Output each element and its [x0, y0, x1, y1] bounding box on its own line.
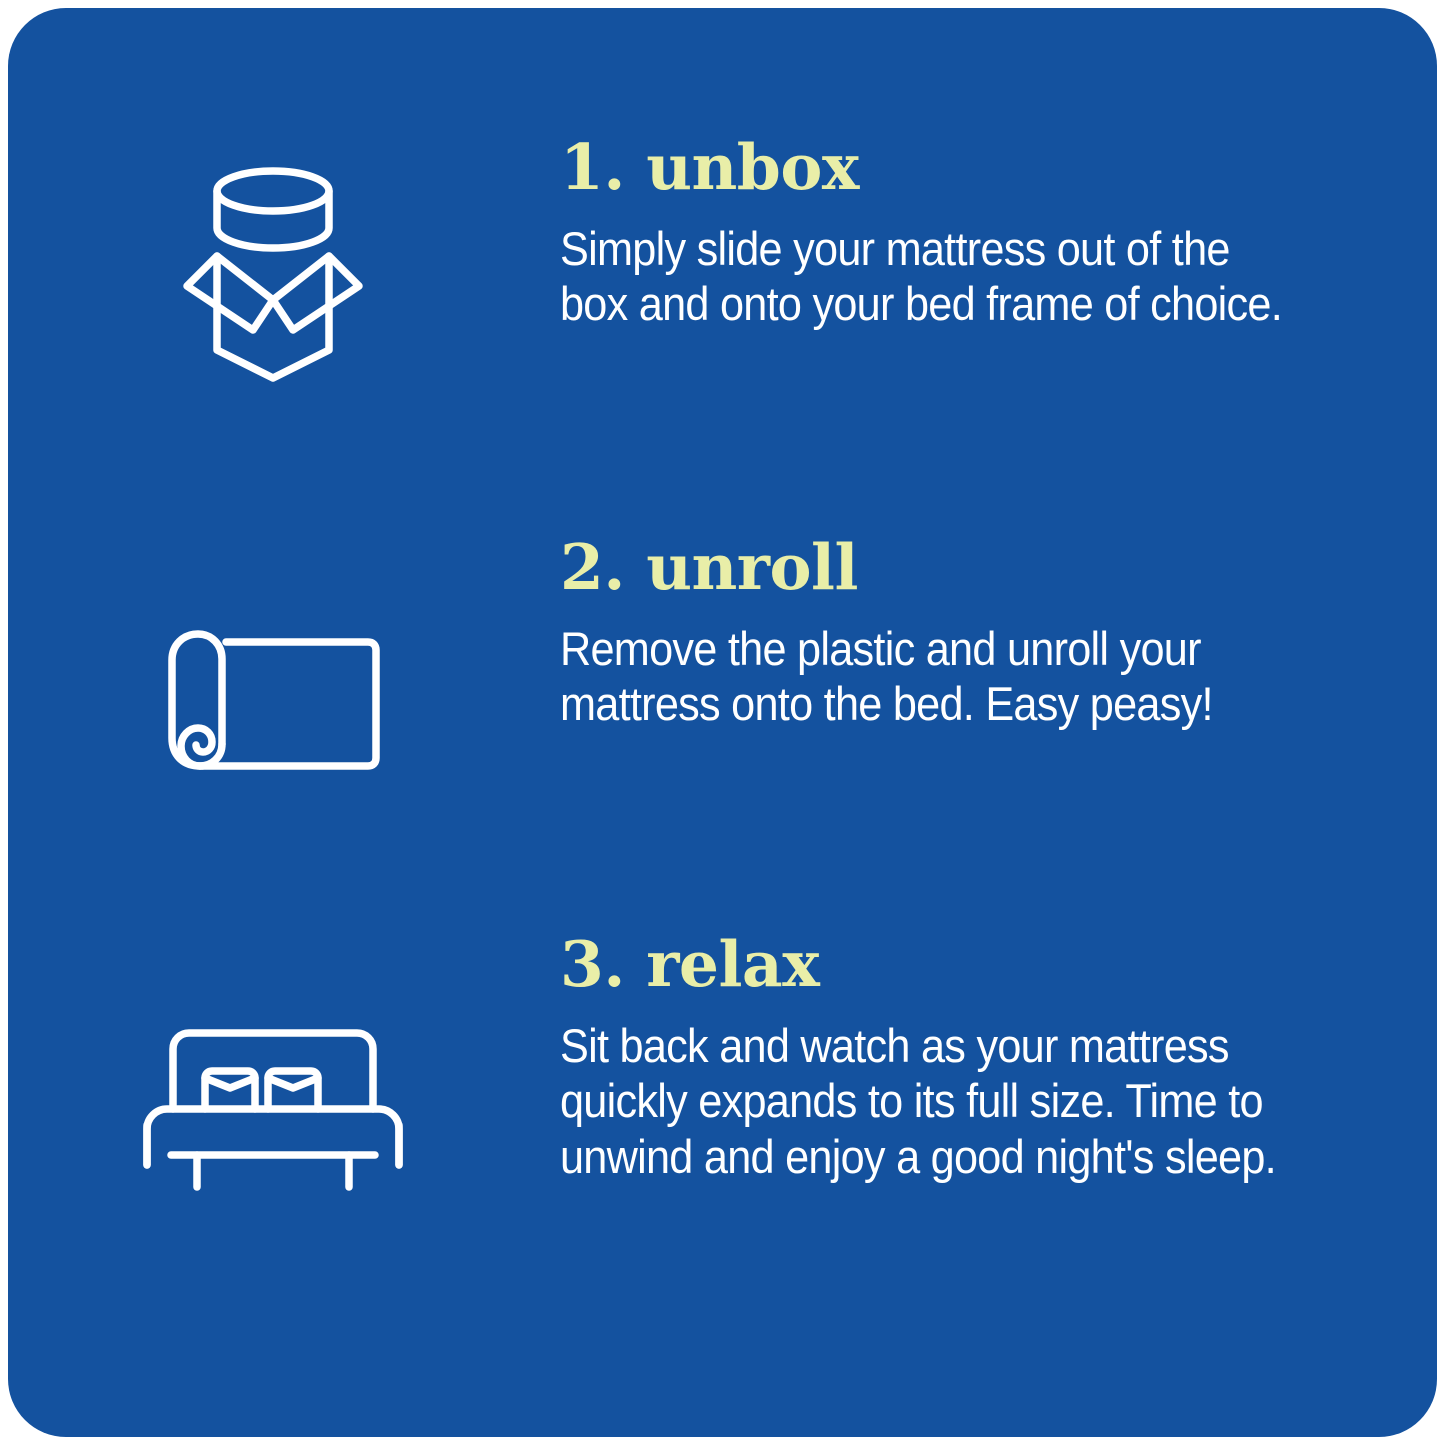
step-relax: 3. relax Sit back and watch as your matt… [8, 933, 1437, 1283]
rolled-mattress-icon [162, 624, 384, 778]
step-unbox-body: Simply slide your mattress out of the bo… [560, 221, 1287, 332]
bed-icon [137, 1025, 409, 1195]
step-unroll-icon-container [108, 536, 438, 924]
step-unroll-title: 2. unroll [560, 536, 1350, 599]
step-unroll: 2. unroll Remove the plastic and unroll … [8, 536, 1437, 836]
instruction-card: 1. unbox Simply slide your mattress out … [8, 8, 1437, 1437]
step-unbox-title: 1. unbox [560, 136, 1350, 199]
step-unbox: 1. unbox Simply slide your mattress out … [8, 136, 1437, 436]
box-unboxing-icon [175, 164, 371, 396]
step-unroll-text: 2. unroll Remove the plastic and unroll … [560, 536, 1350, 732]
step-relax-text: 3. relax Sit back and watch as your matt… [560, 933, 1350, 1184]
step-relax-icon-container [108, 933, 438, 1375]
step-relax-body: Sit back and watch as your mattress quic… [560, 1018, 1287, 1184]
step-relax-title: 3. relax [560, 933, 1350, 996]
step-unroll-body: Remove the plastic and unroll your mattr… [560, 621, 1287, 732]
step-unbox-icon-container [108, 136, 438, 464]
step-unbox-text: 1. unbox Simply slide your mattress out … [560, 136, 1350, 332]
